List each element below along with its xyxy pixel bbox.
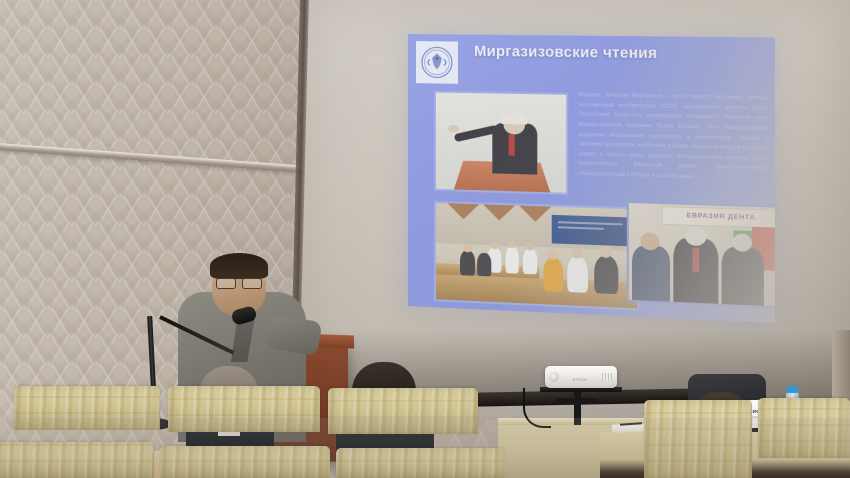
presenter-hair	[210, 253, 268, 279]
projector-mount-arm	[556, 398, 598, 403]
water-bottle-cap	[787, 386, 798, 393]
projector-device: EPSON	[545, 366, 617, 388]
university-emblem-seal-icon	[416, 41, 458, 84]
slide-body-text: Марсель Закеевич Миргазизов — врач, педа…	[579, 91, 769, 185]
glasses-icon	[216, 278, 262, 287]
conference-hall-screenshot: Миргазизовские чтения Марсель Закеевич М…	[0, 0, 850, 478]
banner-text: ЕВРАЗИЯ ДЕНТА	[662, 207, 774, 228]
slide-title: Миргазизовские чтения	[474, 44, 757, 64]
projector-lens-icon	[549, 372, 559, 382]
slide-photo-lecture-hall	[434, 201, 639, 311]
projector-vent	[602, 373, 612, 381]
slide-photo-three-men-banner: ЕВРАЗИЯ ДЕНТА	[627, 201, 775, 309]
floor	[0, 418, 850, 478]
projector-brand-label: EPSON	[573, 378, 587, 382]
slide-photo-elderly-speaker	[434, 90, 568, 195]
projected-slide: Миргазизовские чтения Марсель Закеевич М…	[408, 34, 775, 323]
